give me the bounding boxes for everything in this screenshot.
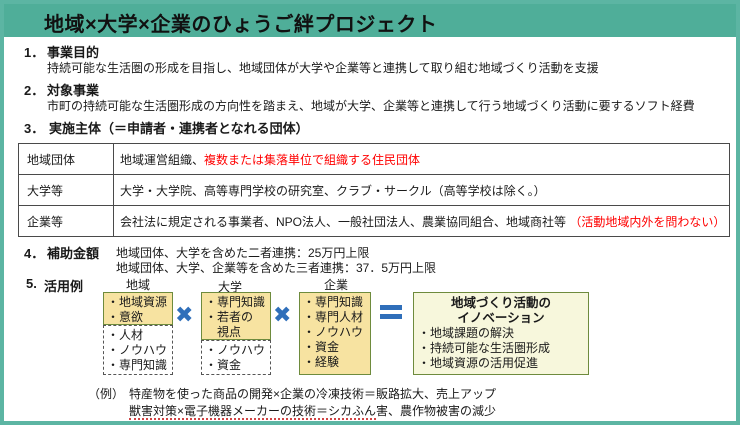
company-main-item-0: ・専門知識: [303, 295, 367, 310]
equals-bar-bottom: [380, 314, 402, 319]
table-row: 企業等 会社法に規定される事業者、NPO法人、一般社団法人、農業協同組合、地域商…: [19, 206, 730, 237]
university-main-box: ・専門知識 ・若者の 視点: [201, 292, 271, 340]
section-4-heading: 補助金額: [47, 243, 99, 262]
desc-highlight: （活動地域内外を問わない）: [569, 215, 725, 229]
table-row: 大学等 大学・大学院、高等専門学校の研究室、クラブ・サークル（高等学校は除く。）: [19, 175, 730, 206]
region-main-item-1: ・意欲: [107, 310, 169, 325]
section-1-number: 1．: [24, 42, 44, 61]
section-3-heading: 実施主体（＝申請者・連携者となれる団体）: [49, 118, 309, 137]
page-title: 地域×大学×企業のひょうご絆プロジェクト: [44, 8, 437, 37]
multiply-icon: ✖: [175, 304, 193, 326]
title-bar: 地域×大学×企業のひょうご絆プロジェクト: [4, 4, 736, 37]
result-item-0: ・地域課題の解決: [418, 326, 584, 341]
example-line-1: 特産物を使った商品の開発×企業の冷凍技術＝販路拡大、売上アップ: [129, 385, 496, 402]
group-label-company: 企業: [300, 276, 372, 293]
equals-bar-top: [380, 305, 402, 310]
example-prefix: （例）: [88, 385, 124, 402]
result-headline-1: 地域づくり活動の: [418, 296, 584, 311]
university-sub-box: ・ノウハウ ・資金: [201, 340, 271, 375]
section-4-line-2: 地域団体、大学、企業等を含めた三者連携：37．5万円上限: [116, 259, 436, 276]
region-main-item-0: ・地域資源: [107, 295, 169, 310]
region-main-box: ・地域資源 ・意欲: [103, 292, 173, 325]
example-line-2-emphasis: 獣害対策×電子機器メーカーの技術＝シカふん: [129, 404, 376, 420]
desc-plain: 大学・大学院、高等専門学校の研究室、クラブ・サークル（高等学校は除く。）: [120, 184, 546, 198]
slide-root: 地域×大学×企業のひょうご絆プロジェクト 1． 事業目的 持続可能な生活圏の形成…: [0, 0, 740, 425]
result-box: 地域づくり活動の イノベーション ・地域課題の解決 ・持続可能な生活圏形成 ・地…: [413, 292, 589, 375]
table-cell-desc: 地域運営組織、複数または集落単位で組織する住民団体: [114, 144, 730, 175]
university-main-item-0: ・専門知識: [205, 295, 267, 310]
section-2-body: 市町の持続可能な生活圏形成の方向性を踏まえ、地域が大学、企業等と連携して行う地域…: [47, 97, 695, 114]
result-headline-2: イノベーション: [418, 311, 584, 326]
section-5-heading: 活用例: [44, 276, 83, 295]
desc-plain: 地域運営組織、: [120, 153, 204, 167]
company-main-box: ・専門知識 ・専門人材 ・ノウハウ ・資金 ・経験: [299, 292, 371, 375]
group-label-region: 地域: [102, 276, 174, 293]
section-3-number: 3．: [24, 118, 44, 137]
desc-highlight: 複数または集落単位で組織する住民団体: [204, 153, 420, 167]
section-5-number: 5.: [26, 276, 37, 291]
company-main-item-2: ・ノウハウ: [303, 325, 367, 340]
table-cell-label: 企業等: [19, 206, 114, 237]
table-row: 地域団体 地域運営組織、複数または集落単位で組織する住民団体: [19, 144, 730, 175]
company-main-item-3: ・資金: [303, 340, 367, 355]
university-main-item-1: ・若者の: [205, 310, 267, 325]
table-cell-label: 地域団体: [19, 144, 114, 175]
equals-icon: [380, 305, 402, 323]
region-sub-item-0: ・人材: [107, 328, 169, 343]
example-line-2-tail: 害、農作物被害の減少: [376, 404, 496, 418]
university-sub-item-1: ・資金: [205, 358, 267, 373]
region-sub-item-1: ・ノウハウ: [107, 343, 169, 358]
region-sub-item-2: ・専門知識: [107, 358, 169, 373]
section-4-number: 4．: [24, 243, 44, 262]
multiply-icon: ✖: [273, 304, 291, 326]
example-line-2: 獣害対策×電子機器メーカーの技術＝シカふん害、農作物被害の減少: [129, 402, 496, 419]
table-cell-desc: 会社法に規定される事業者、NPO法人、一般社団法人、農業協同組合、地域商社等 （…: [114, 206, 730, 237]
table-cell-desc: 大学・大学院、高等専門学校の研究室、クラブ・サークル（高等学校は除く。）: [114, 175, 730, 206]
desc-plain: 会社法に規定される事業者、NPO法人、一般社団法人、農業協同組合、地域商社等: [120, 215, 569, 229]
section-1-body: 持続可能な生活圏の形成を目指し、地域団体が大学や企業等と連携して取り組む地域づく…: [47, 59, 599, 76]
result-item-2: ・地域資源の活用促進: [418, 356, 584, 371]
university-main-item-2: 視点: [205, 325, 267, 340]
region-sub-box: ・人材 ・ノウハウ ・専門知識: [103, 325, 173, 375]
result-item-1: ・持続可能な生活圏形成: [418, 341, 584, 356]
implementing-bodies-table: 地域団体 地域運営組織、複数または集落単位で組織する住民団体 大学等 大学・大学…: [18, 143, 730, 237]
university-sub-item-0: ・ノウハウ: [205, 343, 267, 358]
company-main-item-4: ・経験: [303, 355, 367, 370]
section-2-number: 2．: [24, 80, 44, 99]
table-cell-label: 大学等: [19, 175, 114, 206]
company-main-item-1: ・専門人材: [303, 310, 367, 325]
